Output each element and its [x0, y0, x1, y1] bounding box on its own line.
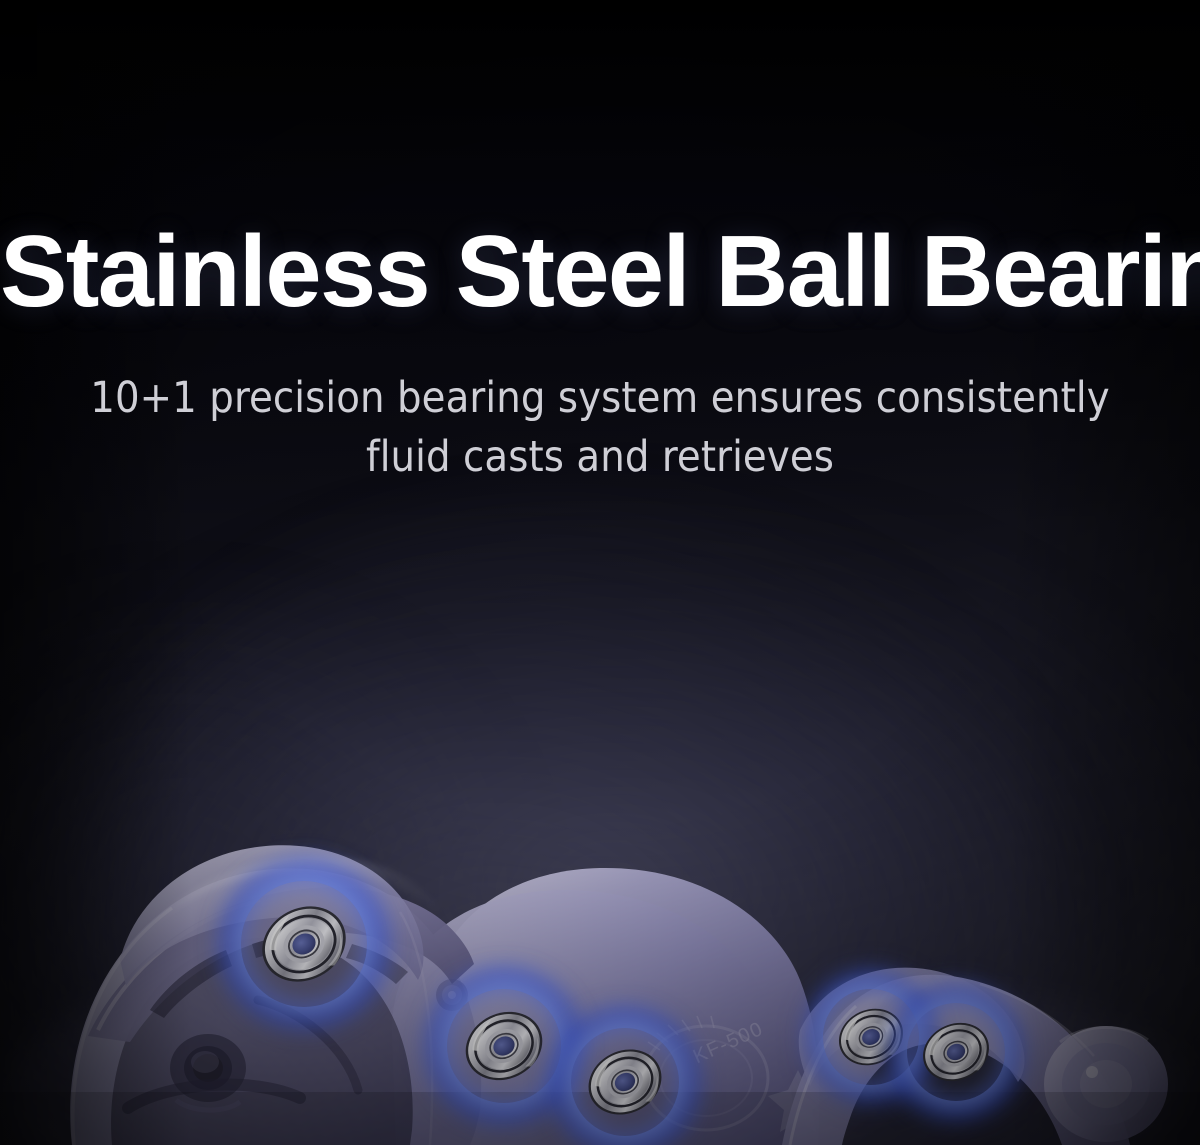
banner-text-block: Stainless Steel Ball Bearings 10+1 preci…: [0, 0, 1200, 488]
banner-subtitle: 10+1 precision bearing system ensures co…: [0, 369, 1200, 488]
subtitle-line-2: fluid casts and retrieves: [28, 428, 1172, 487]
page-title: Stainless Steel Ball Bearings: [0, 222, 1200, 323]
subtitle-line-1: 10+1 precision bearing system ensures co…: [28, 369, 1172, 428]
product-feature-banner: KF-500: [0, 0, 1200, 1145]
